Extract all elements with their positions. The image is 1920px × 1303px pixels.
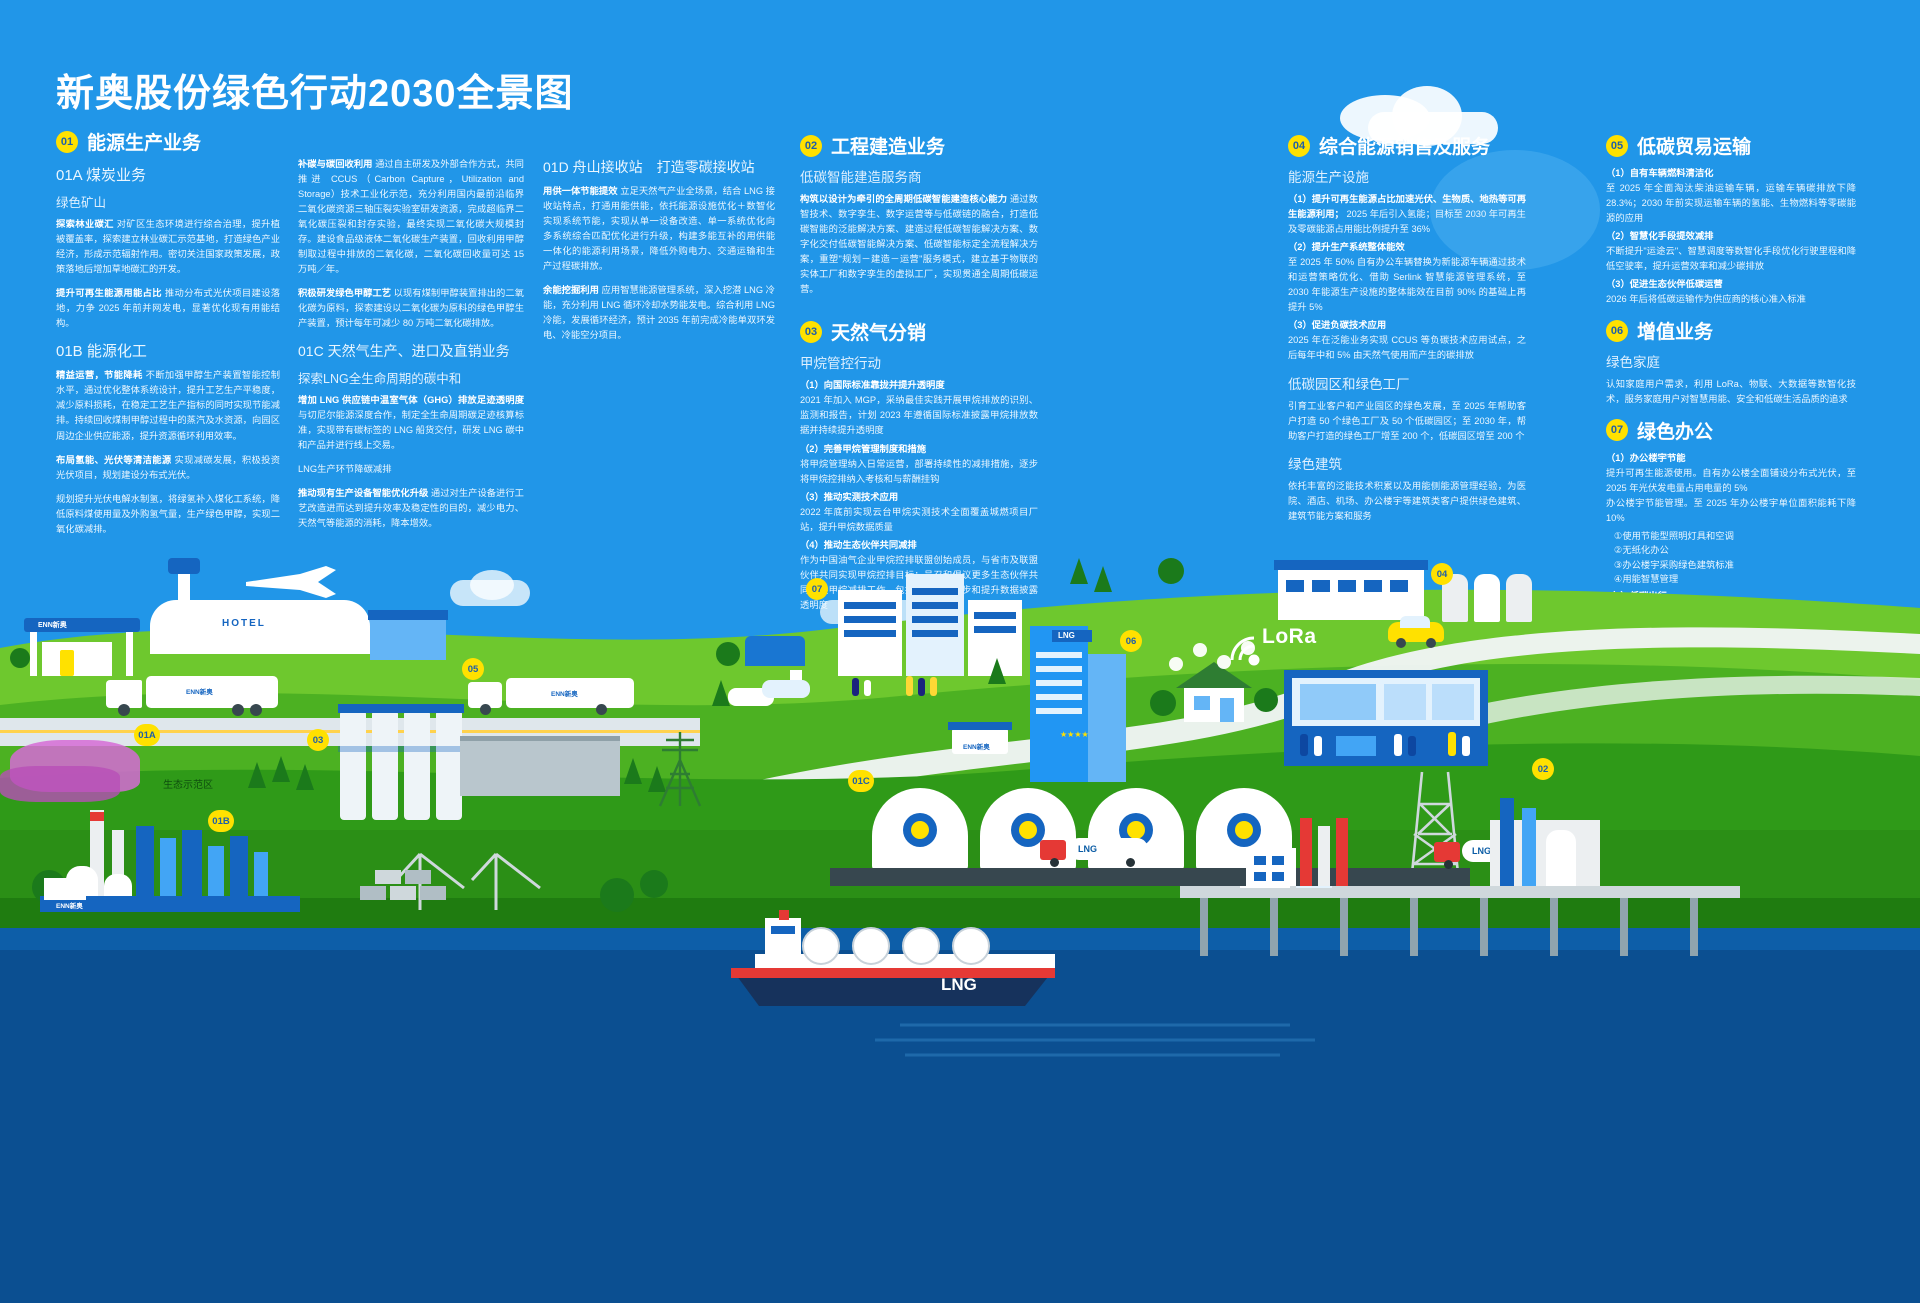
paragraph: 用供一体节能提效 立足天然气产业全场景，结合 LNG 接收站特点，打通用能供能，… [543, 184, 775, 274]
person [930, 677, 937, 696]
lora-signal-icon [1232, 638, 1258, 664]
scene-pin-06[interactable]: 06 [1120, 630, 1142, 652]
office-window-band [912, 616, 958, 623]
tree-icon [624, 758, 642, 784]
lng-truck-cab [1434, 842, 1460, 862]
paragraph: 探索林业碳汇 对矿区生态环境进行综合治理，提升植被覆盖率，探索建立林业碳汇示范基… [56, 217, 280, 277]
lora-label: LoRa [1262, 625, 1317, 649]
paragraph: 增加 LNG 供应链中温室气体（GHG）排放足迹透明度 与切尼尔能源深度合作，制… [298, 393, 524, 453]
scene-pin-04[interactable]: 04 [1431, 563, 1453, 585]
exhibition-screen-map [1300, 684, 1376, 720]
ship-bridge-window [771, 926, 795, 934]
paragraph-body: 立足天然气产业全场景，结合 LNG 接收站特点，打通用能供能，依托能源设施优化＋… [543, 186, 775, 271]
tree-icon [1158, 558, 1184, 584]
item-number: （1）自有车辆燃料清洁化 [1606, 168, 1713, 178]
industrial-window [1254, 872, 1266, 881]
person [918, 678, 925, 696]
section-badge: 07 [1606, 419, 1628, 441]
hotel-window-band [1036, 652, 1082, 658]
section-header-01: 01 能源生产业务 [56, 128, 280, 155]
exhibition-booth [1336, 736, 1376, 756]
scene-pin-01a[interactable]: 01A [134, 724, 160, 746]
person [1394, 734, 1402, 756]
hangar-building [370, 618, 446, 660]
truck-wheel [232, 704, 244, 716]
paragraph: LNG生产环节降碳减排 [298, 462, 524, 477]
paragraph: 余能挖掘利用 应用智慧能源管理系统，深入挖潜 LNG 冷能，充分利用 LNG 循… [543, 283, 775, 343]
factory-window [1390, 580, 1408, 592]
hotel-window-band [1036, 708, 1082, 714]
lng-truck-label: LNG [1472, 846, 1491, 856]
paragraph: 积极研发绿色甲醇工艺 以现有煤制甲醇装置排出的二氧化碳为原料，探索建设以二氧化碳… [298, 286, 524, 331]
person [864, 680, 871, 696]
list-item: （3）促进生态伙伴低碳运营 2026 年后将低碳运输作为供应商的核心准入标准 [1606, 277, 1856, 307]
section-header-06: 06 增值业务 [1606, 317, 1856, 344]
paragraph-body: 通过数智技术、数字孪生、数字运营等与低碳链的融合，打造低碳智能的泛能解决方案、建… [800, 194, 1038, 294]
enn-logo-text: ENN新奥 [551, 688, 578, 698]
paragraph-lead: 构筑以设计为牵引的全周期低碳智能建造核心能力 [800, 194, 1007, 204]
list-item: （2）智慧化手段提效减排 不断提升"运途云"、智慧调度等数智化手段优化行驶里程和… [1606, 229, 1856, 274]
eco-zone-label: 生态示范区 [163, 776, 213, 791]
item-number: （2）完善甲烷管理制度和措施 [800, 444, 926, 454]
item-body: 不断提升"运途云"、智慧调度等数智化手段优化行驶里程和降低空驶率，提升运营效率和… [1606, 246, 1856, 271]
lng-silo [404, 710, 430, 820]
section-badge: 06 [1606, 320, 1628, 342]
paragraph-body: 认知家庭用户需求，利用 LoRa、物联、大数据等数智化技术，服务家庭用户对智慧用… [1606, 379, 1856, 404]
factory-window [1338, 580, 1356, 592]
tree-icon [272, 756, 290, 782]
exhibition-screen-panel [1432, 684, 1474, 720]
section-badge: 01 [56, 131, 78, 153]
enn-logo-text: ENN新奥 [38, 620, 67, 630]
factory-window [1312, 580, 1330, 592]
tree-icon [296, 764, 314, 790]
hotel-stars: ★★★★ [1060, 730, 1089, 739]
airport-label: HOTEL [222, 618, 266, 629]
airplane-icon [246, 566, 336, 598]
truck-wheel [1050, 858, 1059, 867]
sub-head2-production-facility: 能源生产设施 [1288, 166, 1526, 186]
ship-funnel [779, 910, 789, 920]
item-body: 2022 年底前实现云台甲烷实测技术全面覆盖城燃项目厂站，提升甲烷数据质量 [800, 507, 1038, 532]
paragraph-body: 依托丰富的泛能技术积累以及用能侧能源管理经验，为医院、酒店、机场、办公楼宇等建筑… [1288, 481, 1526, 521]
house-window [1194, 696, 1210, 710]
office-window-band [974, 626, 1016, 633]
illustration-scene: HOTEL ENN新奥 ENN新奥 ENN新奥 [0, 530, 1920, 1303]
gas-pump [60, 650, 74, 676]
factory-roof [1274, 560, 1428, 570]
office-window-band [912, 602, 958, 609]
list-item: （3）促进负碳技术应用 2025 年在泛能业务实现 CCUS 等负碳技术应用试点… [1288, 318, 1526, 363]
column-zhoushan-terminal: 01D 舟山接收站 打造零碳接收站 用供一体节能提效 立足天然气产业全场景，结合… [543, 157, 775, 352]
paragraph-body: 引育工业客户和产业园区的绿色发展，至 2025 年帮助客户打造 50 个绿色工厂… [1288, 401, 1526, 441]
list-item: （1）向国际标准靠拢并提升透明度 2021 年加入 MGP，采纳最佳实践开展甲烷… [800, 378, 1038, 438]
gas-station-pillar [30, 632, 37, 676]
car-wheel [1426, 638, 1436, 648]
ship-lng-label: LNG [941, 975, 977, 994]
lng-truck-label: LNG [1078, 844, 1097, 854]
sub-head-01d: 01D 舟山接收站 打造零碳接收站 [543, 157, 775, 177]
person [1408, 736, 1416, 756]
industrial-column [1500, 798, 1514, 888]
eco-flower-field [0, 766, 120, 802]
scene-pin-01b[interactable]: 01B [208, 810, 234, 832]
item-body: 2026 年后将低碳运输作为供应商的核心准入标准 [1606, 294, 1806, 304]
scene-pin-03[interactable]: 03 [307, 729, 329, 751]
industrial-tank [1546, 830, 1576, 888]
item-number: （3）推动实测技术应用 [800, 492, 898, 502]
item-number: （3）促进生态伙伴低碳运营 [1606, 279, 1723, 289]
tree-icon [248, 762, 266, 788]
hotel-label: LNG [1058, 631, 1075, 640]
section-header-04: 04 综合能源销售及服务 [1288, 132, 1526, 159]
item-number: （3）促进负碳技术应用 [1288, 320, 1386, 330]
tree-icon [712, 680, 730, 706]
section-badge: 04 [1288, 135, 1310, 157]
hotel-tower-side [1088, 654, 1126, 782]
paragraph-lead: 探索林业碳汇 [56, 219, 114, 229]
column-energy-production: 01 能源生产业务 01A 煤炭业务 绿色矿山 探索林业碳汇 对矿区生态环境进行… [56, 128, 280, 546]
power-pylon-icon [660, 732, 700, 806]
paragraph: 认知家庭用户需求，利用 LoRa、物联、大数据等数智化技术，服务家庭用户对智慧用… [1606, 377, 1856, 407]
item-body: 2025 年在泛能业务实现 CCUS 等负碳技术应用试点，之后每年中和 5% 由… [1288, 335, 1526, 360]
factory-window [1286, 580, 1304, 592]
chem-column [136, 826, 154, 906]
tree-icon [1094, 566, 1112, 592]
shipping-container [390, 886, 416, 900]
person [1314, 736, 1322, 756]
lng-silo [436, 710, 462, 820]
truck-wheel [596, 704, 607, 715]
sub-head2-green-mine: 绿色矿山 [56, 192, 280, 211]
paragraph: 依托丰富的泛能技术积累以及用能侧能源管理经验，为医院、酒店、机场、办公楼宇等建筑… [1288, 479, 1526, 524]
item-number: （1）向国际标准靠拢并提升透明度 [800, 380, 945, 390]
fence-post [460, 736, 620, 741]
section-title: 能源生产业务 [87, 128, 201, 155]
ev-car-window [1400, 616, 1430, 628]
industrial-window [1272, 856, 1284, 865]
truck-wheel [480, 704, 491, 715]
tree-icon [1070, 558, 1088, 584]
paragraph-body: LNG生产环节降碳减排 [298, 464, 392, 474]
paragraph-lead: 提升可再生能源用能占比 [56, 288, 162, 298]
industrial-window [1272, 872, 1284, 881]
person [1462, 736, 1470, 756]
industrial-stack [1336, 818, 1348, 888]
paragraph: 引育工业客户和产业园区的绿色发展，至 2025 年帮助客户打造 50 个绿色工厂… [1288, 399, 1526, 444]
person [906, 676, 913, 696]
section-title: 综合能源销售及服务 [1319, 132, 1490, 159]
sub-head2-green-building: 绿色建筑 [1288, 453, 1526, 473]
item-number: （2）提升生产系统整体能效 [1288, 242, 1405, 252]
list-item: （2）完善甲烷管理制度和措施 将甲烷管理纳入日常运营，部署持续性的减排措施，逐步… [800, 442, 1038, 487]
tree-icon [1254, 688, 1278, 712]
control-tower [178, 570, 190, 610]
office-window-band [844, 602, 896, 609]
section-badge: 03 [800, 321, 822, 343]
hotel-window-band [1036, 694, 1082, 700]
control-tower-cab [168, 558, 200, 574]
chem-chimney-band [90, 812, 104, 821]
car-wheel [1396, 638, 1406, 648]
paragraph-body: 通过自主研发及外部合作方式，共同推进 CCUS（Carbon Capture，U… [298, 159, 524, 274]
paragraph: 布局氢能、光伏等清洁能源 实现减碳发展，积极投资光伏项目，规划建设分布式光伏。 [56, 453, 280, 483]
section-badge: 05 [1606, 135, 1628, 157]
ship-bridge [765, 918, 801, 956]
fence-panel [460, 740, 620, 796]
person [852, 678, 859, 696]
shipping-container [405, 870, 431, 884]
paragraph-lead: 增加 LNG 供应链中温室气体（GHG）排放足迹透明度 [298, 395, 524, 405]
scene-pin-07[interactable]: 07 [806, 578, 828, 600]
storage-tank [1474, 574, 1500, 622]
sub-head-01c: 01C 天然气生产、进口及直销业务 [298, 341, 524, 361]
truck-wheel [118, 704, 130, 716]
paragraph-lead: 补碳与碳回收利用 [298, 159, 372, 169]
silo-band [338, 746, 464, 752]
shipping-container [375, 870, 401, 884]
item-body: 2021 年加入 MGP，采纳最佳实践开展甲烷排放的识别、监测和报告，计划 20… [800, 395, 1038, 435]
truck-wheel [1444, 860, 1453, 869]
chem-column [182, 830, 202, 906]
item-body: 至 2025 年 50% 自有办公车辆替换为新能源车辆通过技术和运营策略优化、借… [1288, 257, 1526, 312]
lng-silo [340, 710, 366, 820]
scene-pin-01c[interactable]: 01C [848, 770, 874, 792]
paragraph: 精益运营，节能降耗 不断加强甲醇生产装置智能控制水平，通过优化整体系统设计，提升… [56, 368, 280, 443]
silo-cap [338, 704, 464, 713]
truck-wheel [1126, 858, 1135, 867]
enn-logo-text: ENN新奥 [186, 686, 213, 696]
section-title: 工程建造业务 [831, 132, 945, 159]
paragraph: 推动现有生产设备智能优化升级 通过对生产设备进行工艺改造进而达到提升效率及稳定性… [298, 486, 524, 531]
tree-icon [10, 648, 30, 668]
tree-icon [640, 870, 668, 898]
section-title: 增值业务 [1637, 317, 1713, 344]
chem-office [44, 878, 86, 900]
list-item: （1）办公楼宇节能 提升可再生能源使用。自有办公楼全面铺设分布式光伏，至 202… [1606, 451, 1856, 526]
section-header-03: 03 天然气分销 [800, 318, 1038, 345]
paragraph-lead: 余能挖掘利用 [543, 285, 599, 295]
shipping-container [420, 886, 446, 900]
paragraph-lead: 精益运营，节能降耗 [56, 370, 143, 380]
factory-building [1278, 568, 1424, 620]
section-header-07: 07 绿色办公 [1606, 417, 1856, 444]
sub-head2-lng-carbon-neutral: 探索LNG全生命周期的碳中和 [298, 368, 524, 387]
gas-station-pillar [126, 632, 133, 676]
paragraph: 提升可再生能源用能占比 推动分布式光伏项目建设落地，力争 2025 年前并网发电… [56, 286, 280, 331]
person [1448, 732, 1456, 756]
lng-truck-cab [1040, 840, 1066, 860]
hotel-window-band [1036, 680, 1082, 686]
list-item: （2）提升生产系统整体能效 至 2025 年 50% 自有办公车辆替换为新能源车… [1288, 240, 1526, 315]
industrial-building [1246, 848, 1296, 888]
person [1300, 734, 1308, 756]
item-body: 提升可再生能源使用。自有办公楼全面铺设分布式光伏，至 2025 年光伏发电量占用… [1606, 468, 1856, 523]
item-number: （2）智慧化手段提效减排 [1606, 231, 1713, 241]
industrial-column [1522, 808, 1536, 888]
lng-silo [372, 710, 398, 820]
infographic-canvas: 新奥股份绿色行动2030全景图 01 能源生产业务 01A 煤炭业务 绿色矿山 … [0, 0, 1920, 1303]
list-item: （1）提升可再生能源占比加速光伏、生物质、地热等可再生能源利用； 2025 年后… [1288, 192, 1526, 237]
item-body: 将甲烷管理纳入日常运营，部署持续性的减排措施，逐步将甲烷控排纳入考核和与薪酬挂钩 [800, 459, 1038, 484]
hotel-tower [1030, 626, 1088, 782]
sub-head-01a: 01A 煤炭业务 [56, 164, 280, 185]
paragraph-lead: 布局氢能、光伏等清洁能源 [56, 455, 172, 465]
exhibition-screen-panel [1384, 684, 1426, 720]
paragraph: 补碳与碳回收利用 通过自主研发及外部合作方式，共同推进 CCUS（Carbon … [298, 157, 524, 277]
hangar-roof [368, 610, 448, 620]
enn-logo-text: ENN新奥 [56, 900, 83, 910]
office-window-band [912, 630, 958, 637]
paragraph: 构筑以设计为牵引的全周期低碳智能建造核心能力 通过数智技术、数字孪生、数字运营等… [800, 192, 1038, 297]
office-window-band [974, 612, 1016, 619]
paragraph-body: 规划提升光伏电解水制氢，将绿氢补入煤化工系统，降低原料煤使用量及外购氢气量，生产… [56, 494, 280, 534]
sub-head2-methane-control: 甲烷管控行动 [800, 352, 1038, 372]
industrial-stack [1300, 818, 1312, 888]
list-item: （1）自有车辆燃料清洁化 至 2025 年全面淘汰柴油运输车辆，运输车辆碳排放下… [1606, 166, 1856, 226]
hotel-window-band [1036, 666, 1082, 672]
car [762, 680, 810, 698]
item-number: （1）办公楼宇节能 [1606, 453, 1686, 463]
sub-head2-green-family: 绿色家庭 [1606, 351, 1856, 371]
scene-pin-02[interactable]: 02 [1532, 758, 1554, 780]
factory-window [1364, 580, 1382, 592]
page-title: 新奥股份绿色行动2030全景图 [56, 62, 574, 117]
terminal-road [830, 868, 1470, 886]
enn-store-roof [948, 722, 1012, 730]
column-ccus-lng: 补碳与碳回收利用 通过自主研发及外部合作方式，共同推进 CCUS（Carbon … [298, 157, 524, 540]
ship-hull-stripe [731, 968, 1055, 978]
section-title: 绿色办公 [1637, 417, 1713, 444]
office-window-band [912, 588, 958, 595]
charging-canopy [745, 636, 805, 666]
item-body: 至 2025 年全面淘汰柴油运输车辆，运输车辆碳排放下降 28.3%；2030 … [1606, 183, 1856, 223]
tree-icon [1150, 690, 1176, 716]
truck-wheel [250, 704, 262, 716]
sub-head-01b: 01B 能源化工 [56, 340, 280, 361]
industrial-window [1254, 856, 1266, 865]
pier-building [1240, 886, 1290, 888]
shipping-container [360, 886, 386, 900]
office-window-band [844, 616, 896, 623]
tree-icon [600, 878, 634, 912]
column-integrated-energy: 04 综合能源销售及服务 能源生产设施 （1）提升可再生能源占比加速光伏、生物质… [1288, 132, 1526, 533]
tree-icon [988, 658, 1006, 684]
section-badge: 02 [800, 135, 822, 157]
section-title: 低碳贸易运输 [1637, 132, 1751, 159]
enn-logo-text: ENN新奥 [963, 741, 990, 751]
section-title: 天然气分销 [831, 318, 926, 345]
paragraph-body: 与切尼尔能源深度合作，制定全生命周期碳足迹核算标准，实现带有碳标签的 LNG 船… [298, 410, 524, 450]
scene-pin-05[interactable]: 05 [462, 658, 484, 680]
office-window-band [844, 630, 896, 637]
list-item: （3）推动实测技术应用 2022 年底前实现云台甲烷实测技术全面覆盖城燃项目厂站… [800, 490, 1038, 535]
sub-head2-low-carbon-builder: 低碳智能建造服务商 [800, 166, 1038, 186]
tree-icon [716, 642, 740, 666]
paragraph-lead: 推动现有生产设备智能优化升级 [298, 488, 428, 498]
pier-building-2 [1296, 886, 1332, 888]
section-header-02: 02 工程建造业务 [800, 132, 1038, 159]
section-header-05: 05 低碳贸易运输 [1606, 132, 1856, 159]
industrial-stack [1318, 826, 1330, 888]
gas-station-shop [42, 642, 112, 676]
paragraph-lead: 积极研发绿色甲醇工艺 [298, 288, 391, 298]
house-body [1184, 688, 1244, 722]
storage-tank [1506, 574, 1532, 622]
sub-head2-low-carbon-park: 低碳园区和绿色工厂 [1288, 373, 1526, 393]
house-door [1220, 698, 1234, 722]
pier-piles [1200, 898, 1698, 956]
paragraph-lead: 用供一体节能提效 [543, 186, 618, 196]
paragraph-body: 不断加强甲醇生产装置智能控制水平，通过优化整体系统设计，提升工艺生产平稳度，减少… [56, 370, 280, 440]
